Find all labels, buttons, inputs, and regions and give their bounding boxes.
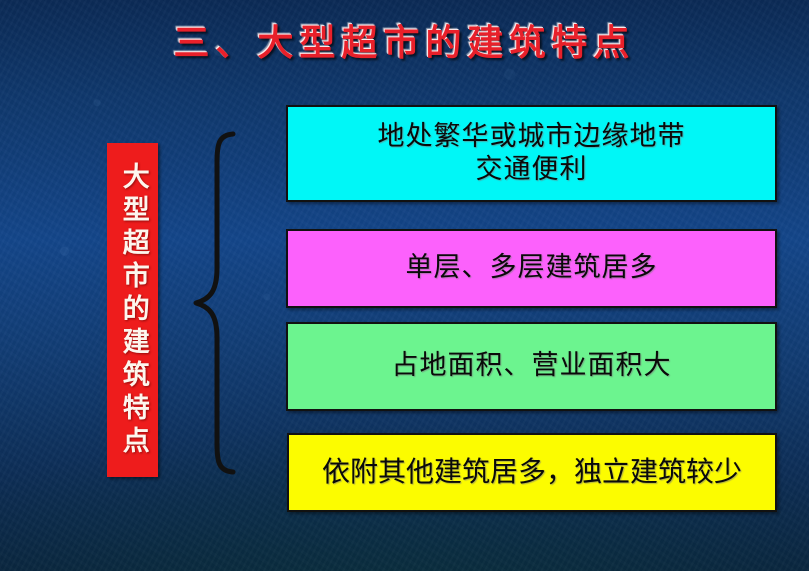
feature-box-text: 地处繁华或城市边缘地带 交通便利: [378, 121, 686, 187]
feature-box-text: 占地面积、营业面积大: [392, 350, 672, 383]
feature-box-line: 单层、多层建筑居多: [406, 252, 658, 285]
feature-box-attachment: 依附其他建筑居多，独立建筑较少: [287, 433, 777, 512]
feature-box-line: 交通便利: [378, 154, 686, 187]
vertical-banner: 大型超市的建筑特点: [107, 143, 158, 477]
feature-box-text: 依附其他建筑居多，独立建筑较少: [322, 455, 742, 489]
feature-box-line: 依附其他建筑居多，独立建筑较少: [322, 455, 742, 489]
left-curly-brace: [193, 128, 239, 478]
feature-box-line: 占地面积、营业面积大: [392, 350, 672, 383]
feature-box-area: 占地面积、营业面积大: [286, 322, 777, 411]
feature-box-location: 地处繁华或城市边缘地带 交通便利: [286, 105, 777, 202]
curly-brace-icon: [193, 128, 239, 478]
vertical-banner-label: 大型超市的建筑特点: [115, 162, 150, 459]
feature-box-storeys: 单层、多层建筑居多: [286, 229, 777, 308]
presentation-slide: 三、大型超市的建筑特点 大型超市的建筑特点 地处繁华或城市边缘地带 交通便利 单…: [0, 0, 809, 571]
page-title: 三、大型超市的建筑特点: [0, 14, 809, 66]
feature-box-text: 单层、多层建筑居多: [406, 252, 658, 285]
feature-box-line: 地处繁华或城市边缘地带: [378, 121, 686, 154]
